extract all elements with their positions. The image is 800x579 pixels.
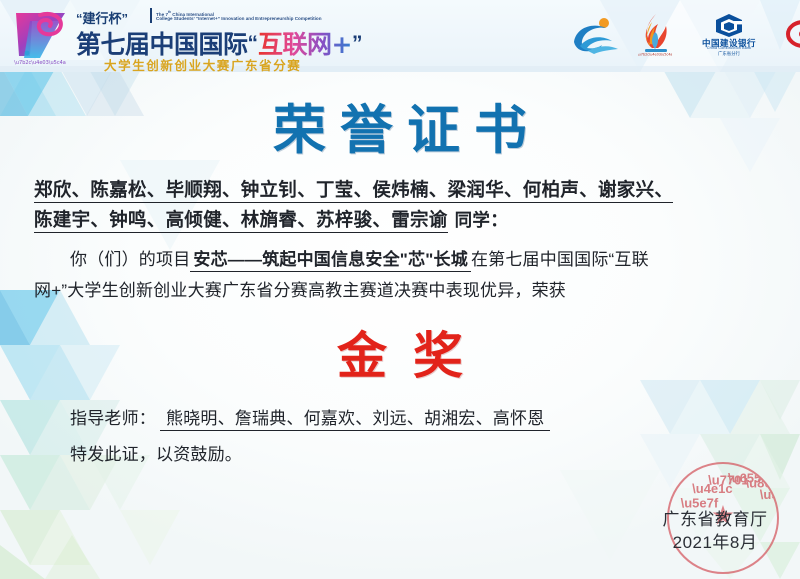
signature-block: 广东省教育厅 2021年8月 (640, 508, 790, 554)
issue-date: 2021年8月 (640, 531, 790, 554)
ccb-label-branch: 广东省分行 (686, 51, 772, 57)
closing-statement: 特发此证，以资鼓励。 (70, 440, 242, 465)
award-level: 金奖 (0, 316, 800, 388)
competition-subtitle: 大学生创新创业大赛广东省分赛 (104, 55, 301, 72)
ccb-label-en: China Construction Bank (686, 46, 772, 50)
english-title-line2: College Students’ “Internet+” Innovation… (156, 16, 322, 22)
ccb-mark (686, 12, 772, 38)
body-middle: 在第七届中国国际“互联 (471, 250, 649, 269)
header-divider (150, 8, 152, 23)
certificate-page: \u7b2c\u4e03\u5c4a “建行杯” The 7th China I… (0, 0, 800, 579)
svg-text:\u7b2c\u4e03\u5c4a: \u7b2c\u4e03\u5c4a (638, 53, 672, 57)
body-prefix: 你（们）的项目 (70, 250, 190, 269)
svg-text:\u7b2c\u4e03\u5c4a: \u7b2c\u4e03\u5c4a (14, 60, 66, 66)
body-paragraph-line-1: 你（们）的项目安芯——筑起中国信息安全"芯"长城在第七届中国国际“互联 (34, 244, 800, 275)
quote-close: ” (352, 32, 363, 55)
body-paragraph-line-2: 网+”大学生创新创业大赛广东省分赛高教主赛道决赛中表现优异，荣获 (34, 275, 768, 306)
header-banner: \u7b2c\u4e03\u5c4a “建行杯” The 7th China I… (0, 0, 800, 72)
header-text-group: “建行杯” The 7th China International Colleg… (76, 3, 496, 71)
partner-red-logo (786, 12, 800, 56)
recipients-line-1: 郑欣、陈嘉松、毕顺翔、钟立钊、丁莹、侯炜楠、梁润华、何柏声、谢家兴、 (34, 176, 774, 206)
advisors-line: 指导老师：熊晓明、詹瑞典、何嘉欢、刘远、胡湘宏、高怀恩 (70, 404, 550, 429)
competition-swirl-logo (568, 12, 624, 56)
advisors-names: 熊晓明、詹瑞典、何嘉欢、刘远、胡湘宏、高怀恩 (160, 409, 550, 431)
advisors-label: 指导老师： (70, 409, 156, 428)
recipients-suffix: 同学： (455, 211, 508, 231)
competition-logo-mark: \u7b2c\u4e03\u5c4a (10, 6, 72, 66)
recipients-line-2-text: 陈建宇、钟鸣、高倾健、林旓睿、苏梓骏、雷宗谕 (34, 210, 448, 233)
sponsor-logo-row: \u7b2c\u4e03\u5c4a 中国建设银行 China Construc… (568, 8, 800, 60)
china-construction-bank-logo: 中国建设银行 China Construction Bank 广东省分行 (686, 12, 772, 56)
recipients-line-1-text: 郑欣、陈嘉松、毕顺翔、钟立钊、丁莹、侯炜楠、梁润华、何柏声、谢家兴、 (34, 180, 673, 203)
issuing-organization: 广东省教育厅 (640, 508, 790, 531)
project-name: 安芯——筑起中国信息安全"芯"长城 (190, 250, 471, 272)
recipients-block: 郑欣、陈嘉松、毕顺翔、钟立钊、丁莹、侯炜楠、梁润华、何柏声、谢家兴、 陈建宇、钟… (34, 176, 774, 236)
recipients-line-2: 陈建宇、钟鸣、高倾健、林旓睿、苏梓骏、雷宗谕同学： (34, 206, 774, 236)
quote-open: “ (248, 32, 259, 55)
certificate-title: 荣誉证书 (0, 88, 800, 164)
flame-figure-logo: \u7b2c\u4e03\u5c4a (638, 12, 672, 56)
